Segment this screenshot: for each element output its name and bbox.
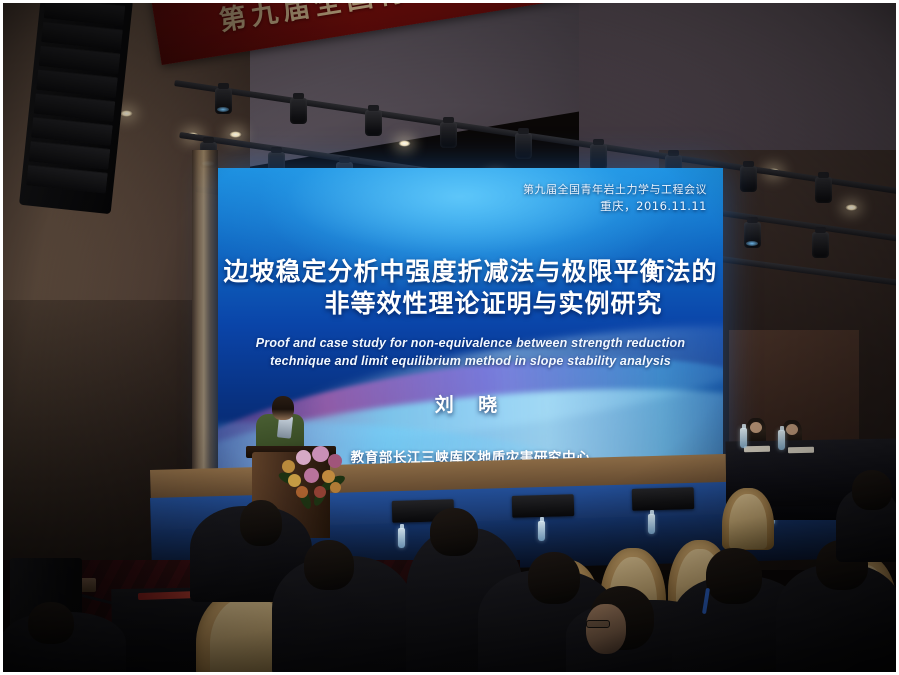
slide-title-line2: 非等效性理论证明与实例研究 [264, 288, 723, 320]
par-can-light [290, 98, 307, 124]
chair-cushion [729, 494, 767, 549]
slide-header: 第九届全国青年岩土力学与工程会议 重庆，2016.11.11 [523, 182, 707, 215]
conference-hall-photo: 第九届全国青年岩土力学与工程会议第一分会场 [0, 0, 899, 675]
par-can-light [740, 166, 757, 192]
par-can-light [215, 88, 232, 114]
water-bottle [398, 528, 405, 548]
par-can-light [515, 133, 532, 159]
slide-title-line1: 边坡稳定分析中强度折减法与极限平衡法的 [218, 256, 723, 288]
eyeglasses [586, 620, 610, 628]
slide-title: 边坡稳定分析中强度折减法与极限平衡法的 非等效性理论证明与实例研究 [218, 256, 723, 319]
ceiling-downlight [229, 131, 242, 138]
slide-header-location-date: 重庆，2016.11.11 [523, 198, 707, 215]
par-can-light [365, 110, 382, 136]
slide-subtitle-line2: technique and limit equilibrium method i… [242, 352, 699, 370]
audience-head [706, 548, 762, 604]
panel-papers [788, 447, 814, 453]
par-can-light [812, 232, 829, 258]
audience-head [852, 470, 892, 510]
stage-monitor [632, 487, 695, 511]
par-can-light [815, 177, 832, 203]
par-can-light [590, 144, 607, 170]
presenter-head [272, 396, 294, 420]
slide-header-conference: 第九届全国青年岩土力学与工程会议 [523, 182, 707, 198]
slide-subtitle-line1: Proof and case study for non-equivalence… [242, 334, 699, 352]
panel-papers [744, 446, 770, 452]
water-bottle [648, 514, 655, 534]
slide-author: 刘 晓 [218, 390, 723, 417]
audience-head [528, 552, 580, 604]
water-bottle [740, 428, 747, 448]
ceiling-downlight [120, 110, 133, 117]
audience-head [240, 500, 282, 546]
slide-subtitle: Proof and case study for non-equivalence… [242, 334, 699, 370]
water-bottle [778, 430, 785, 450]
ceiling-downlight [845, 204, 858, 211]
audience-chair [722, 488, 774, 550]
stage-monitor [512, 494, 575, 518]
audience-head [430, 508, 478, 556]
audience-face [586, 604, 626, 654]
audience-head [28, 602, 74, 644]
ceiling-downlight [398, 140, 411, 147]
water-bottle [538, 521, 545, 541]
par-can-light [440, 122, 457, 148]
audience-head [304, 540, 354, 590]
par-can-light [744, 222, 761, 248]
flower-arrangement [276, 438, 350, 512]
